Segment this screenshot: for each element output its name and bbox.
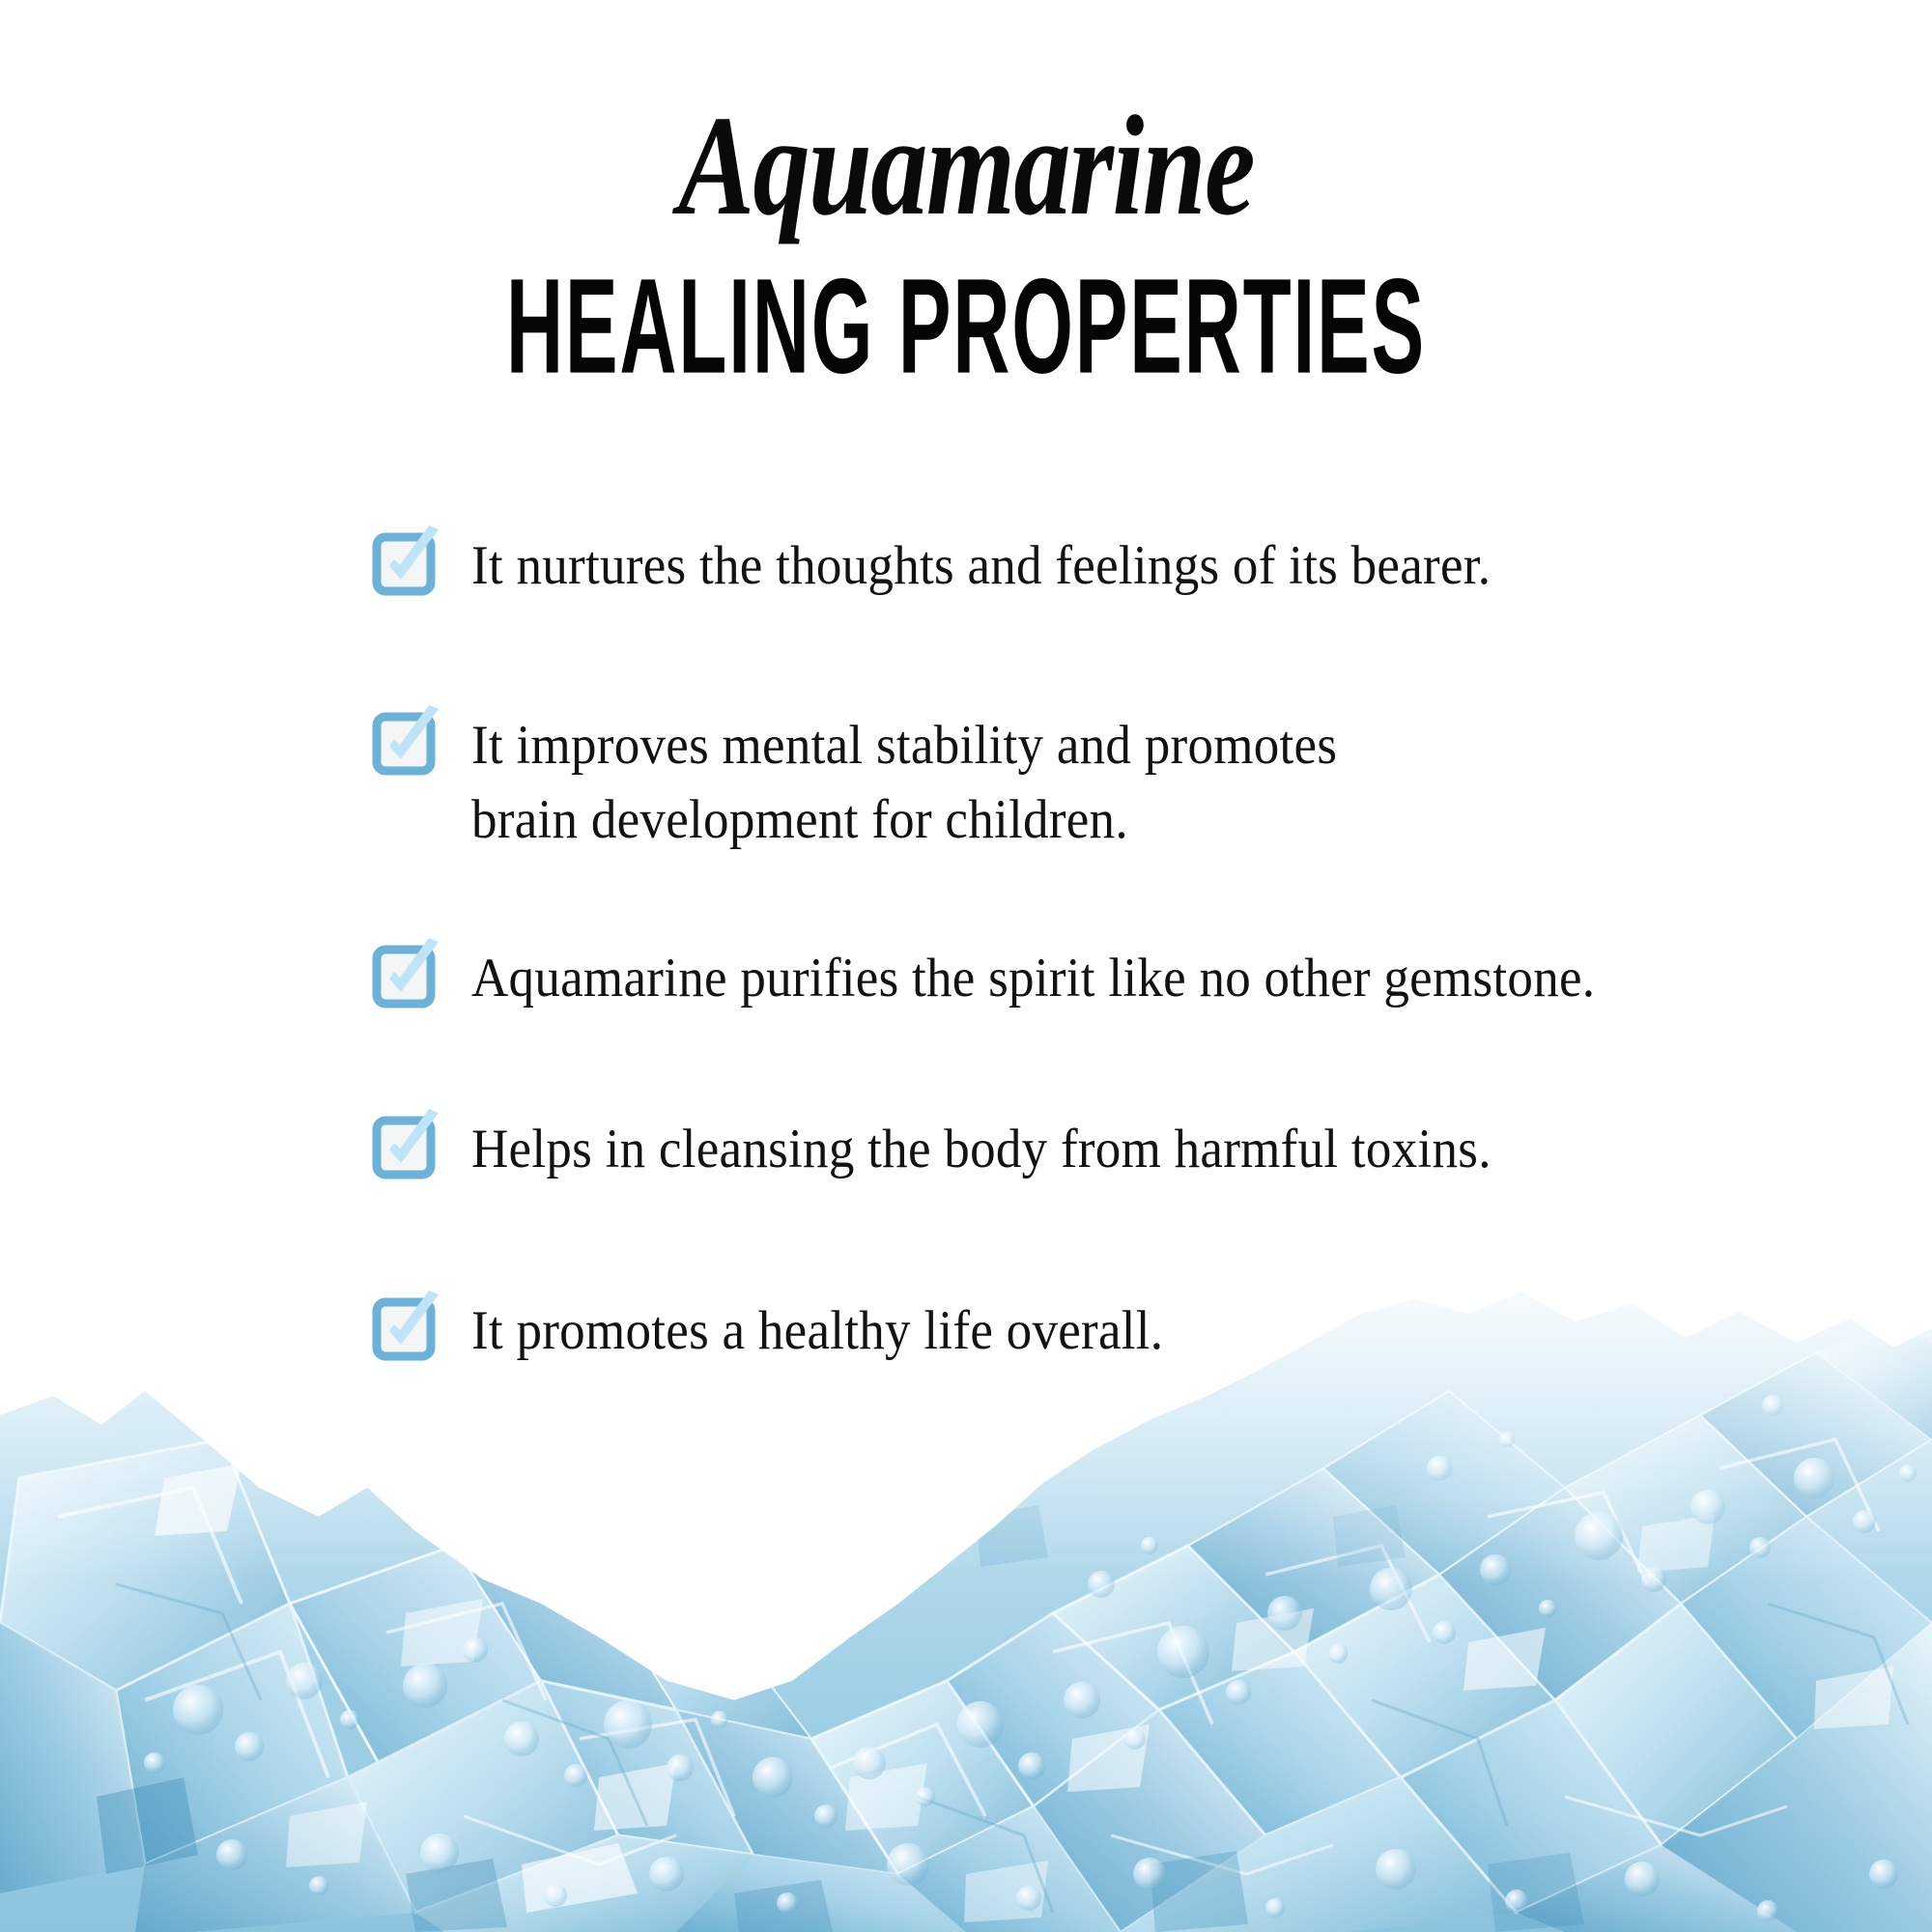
list-item-label: It nurtures the thoughts and feelings of… (471, 529, 1491, 603)
list-item-label: Helps in cleansing the body from harmful… (471, 1113, 1492, 1186)
page-title: Aquamarine (193, 95, 1739, 238)
list-item: It improves mental stability and promote… (375, 709, 1804, 857)
list-item-label: It improves mental stability and promote… (471, 709, 1337, 857)
checked-checkbox-icon (375, 535, 433, 593)
checked-checkbox-icon (375, 948, 433, 1006)
heading-block: Aquamarine HEALING PROPERTIES (0, 0, 1932, 386)
checked-checkbox-icon (375, 1119, 433, 1177)
list-item: Aquamarine purifies the spirit like no o… (375, 942, 1804, 1015)
list-item: Helps in cleansing the body from harmful… (375, 1113, 1804, 1186)
list-item-label: Aquamarine purifies the spirit like no o… (471, 942, 1595, 1015)
ice-cubes-photo (0, 1198, 1932, 1932)
list-item: It nurtures the thoughts and feelings of… (375, 529, 1804, 603)
poster-canvas: Aquamarine HEALING PROPERTIES It nurture… (0, 0, 1932, 1932)
checked-checkbox-icon (375, 715, 433, 773)
page-subtitle: HEALING PROPERTIES (367, 259, 1565, 394)
